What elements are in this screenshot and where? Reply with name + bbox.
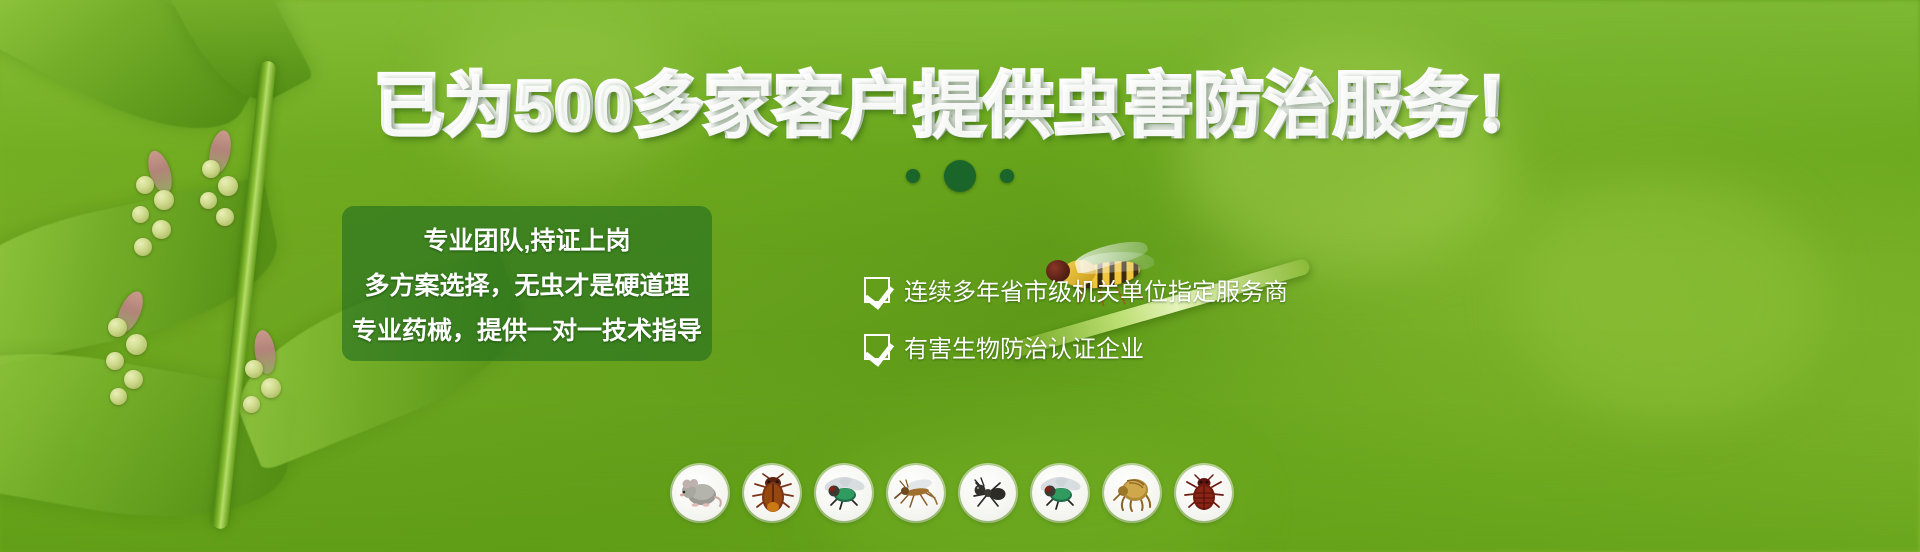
pest-icon-row	[672, 465, 1232, 521]
banner-headline-text: 已为500多家客户提供虫害防治服务！	[375, 68, 1544, 144]
banner-headline: 已为500多家客户提供虫害防治服务！	[0, 72, 1920, 140]
selling-point-line-1: 专业团队,持证上岗	[424, 221, 631, 257]
selling-point-line-3: 专业药械，提供一对一技术指导	[352, 311, 702, 347]
selling-points-panel: 专业团队,持证上岗 多方案选择，无虫才是硬道理 专业药械，提供一对一技术指导	[342, 206, 712, 361]
credentials-checklist: 连续多年省市级机关单位指定服务商 有害生物防治认证企业	[864, 272, 1288, 364]
decorative-dots	[0, 160, 1920, 192]
selling-point-line-2: 多方案选择，无虫才是硬道理	[364, 266, 689, 302]
cockroach-icon[interactable]	[744, 465, 800, 521]
bedbug-icon[interactable]	[1176, 465, 1232, 521]
blowfly-icon[interactable]	[1032, 465, 1088, 521]
mosquito-icon[interactable]	[888, 465, 944, 521]
bokeh-highlight-2	[1520, 180, 1820, 420]
checklist-item-label: 有害生物防治认证企业	[904, 329, 1144, 364]
dot-small-right	[1000, 169, 1014, 183]
pest-control-banner: 已为500多家客户提供虫害防治服务！ 专业团队,持证上岗 多方案选择，无虫才是硬…	[0, 0, 1920, 552]
fly-icon[interactable]	[816, 465, 872, 521]
check-square-icon	[864, 277, 890, 303]
checklist-item-label: 连续多年省市级机关单位指定服务商	[904, 272, 1288, 307]
checklist-item: 有害生物防治认证企业	[864, 329, 1288, 364]
flea-icon[interactable]	[1104, 465, 1160, 521]
check-square-icon	[864, 334, 890, 360]
dot-small-left	[906, 169, 920, 183]
checklist-item: 连续多年省市级机关单位指定服务商	[864, 272, 1288, 307]
dot-large-center	[944, 160, 976, 192]
mouse-icon[interactable]	[672, 465, 728, 521]
ant-icon[interactable]	[960, 465, 1016, 521]
